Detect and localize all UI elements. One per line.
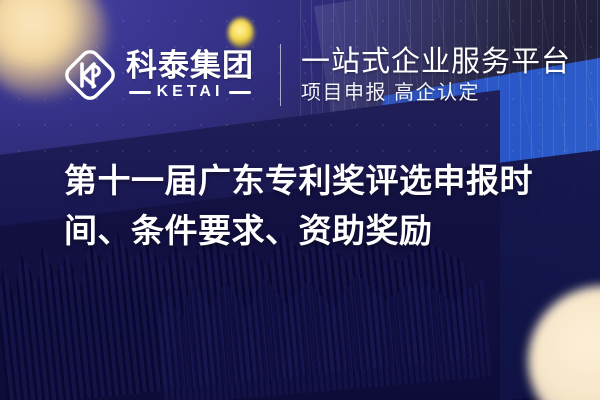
page-title: 第十一届广东专利奖评选申报时间、条件要求、资助奖励 xyxy=(64,156,556,256)
ketai-diamond-kp-monogram-icon xyxy=(60,45,120,105)
rule-left-icon xyxy=(129,91,151,94)
promo-banner: 科泰集团 KETAI 一站式企业服务平台 项目申报 高企认定 第十一届广东专利奖… xyxy=(0,0,600,400)
brand-name-en: KETAI xyxy=(157,84,224,100)
brand-name-en-row: KETAI xyxy=(129,84,252,100)
brand-name-cn: 科泰集团 xyxy=(126,50,254,82)
vertical-divider xyxy=(280,44,281,106)
tagline-block: 一站式企业服务平台 项目申报 高企认定 xyxy=(301,46,571,104)
rule-right-icon xyxy=(229,91,251,94)
tagline-sub: 项目申报 高企认定 xyxy=(301,82,571,104)
brand-header: 科泰集团 KETAI 一站式企业服务平台 项目申报 高企认定 xyxy=(60,44,571,106)
tagline-main: 一站式企业服务平台 xyxy=(301,46,571,78)
brand-wordmark: 科泰集团 KETAI xyxy=(126,50,254,100)
